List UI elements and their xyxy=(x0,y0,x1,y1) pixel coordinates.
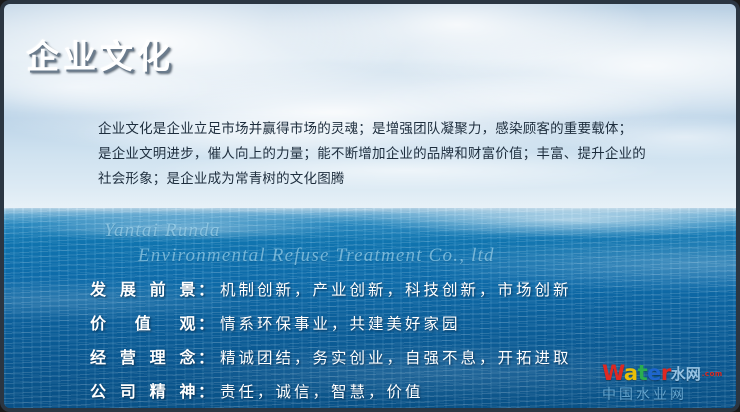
culture-description: 企业文化是企业立足市场并赢得市场的灵魂；是增强团队凝聚力，感染顾客的重要载体； … xyxy=(98,116,698,191)
creed-colon-vision: ： xyxy=(198,276,220,300)
slide-title: 企业文化 xyxy=(26,30,174,78)
creed-value-spirit: 责任，诚信，智慧，价值 xyxy=(220,380,424,402)
paragraph-line-1: 企业文化是企业立足市场并赢得市场的灵魂；是增强团队凝聚力，感染顾客的重要载体； xyxy=(98,116,698,141)
logo-letter-e: e xyxy=(647,361,661,385)
logo-wordmark: Water水网.com xyxy=(602,362,723,385)
logo-chinese-name: 中国水业网 xyxy=(602,384,687,404)
creed-row-values: 价值观 ： 情系环保事业，共建美好家园 xyxy=(90,310,710,344)
creed-value-vision: 机制创新，产业创新，科技创新，市场创新 xyxy=(220,278,572,300)
creed-colon-values: ： xyxy=(198,310,220,334)
creed-value-philosophy: 精诚团结，务实创业，自强不息，开拓进取 xyxy=(220,346,572,368)
creed-label-values: 价值观 xyxy=(90,310,198,334)
watermark-line-2: Environmental Refuse Treatment Co., ltd xyxy=(104,243,664,268)
slide-canvas: 企业文化 企业文化是企业立足市场并赢得市场的灵魂；是增强团队凝聚力，感染顾客的重… xyxy=(0,0,740,412)
logo-cn-inline: 水网 xyxy=(671,365,701,383)
creed-value-values: 情系环保事业，共建美好家园 xyxy=(220,312,461,334)
creed-label-spirit: 公司精神 xyxy=(90,378,198,402)
logo-letter-w: W xyxy=(602,361,624,385)
logo-letter-r: r xyxy=(661,361,671,385)
logo-dotcom: .com xyxy=(702,370,723,378)
watermark-line-1: Yantai Runda xyxy=(104,220,221,241)
creed-colon-spirit: ： xyxy=(198,378,220,402)
creed-label-vision: 发展前景 xyxy=(90,276,198,300)
company-name-watermark: Yantai Runda Environmental Refuse Treatm… xyxy=(104,218,664,268)
paragraph-line-2: 是企业文明进步，催人向上的力量；能不断增加企业的品牌和财富价值；丰富、提升企业的 xyxy=(98,141,698,166)
creed-colon-philosophy: ： xyxy=(198,344,220,368)
water-website-logo[interactable]: Water水网.com 中国水业网 xyxy=(598,362,730,404)
logo-letter-t: t xyxy=(638,361,648,385)
logo-letter-a: a xyxy=(624,361,638,385)
paragraph-line-3: 社会形象；是企业成为常青树的文化图腾 xyxy=(98,166,698,191)
creed-label-philosophy: 经营理念 xyxy=(90,344,198,368)
creed-row-vision: 发展前景 ： 机制创新，产业创新，科技创新，市场创新 xyxy=(90,276,710,310)
